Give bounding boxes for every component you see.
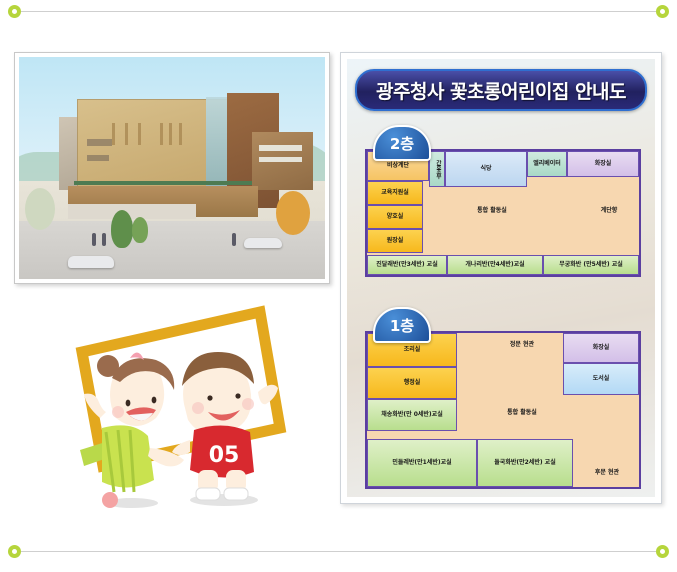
car	[68, 256, 114, 268]
facade-window	[87, 155, 109, 161]
room-2f-elevator[interactable]: 엘리베이터	[527, 151, 567, 177]
tree	[276, 191, 310, 235]
room-2f-class-gaenari[interactable]: 개나리반(만4세반)교실	[447, 255, 543, 275]
facade-window	[87, 139, 112, 146]
facade-louvre	[160, 123, 163, 145]
room-2f-education-support[interactable]: 교육지원실	[367, 181, 423, 205]
building-right-wing	[252, 132, 313, 190]
boy-character: 05	[172, 352, 278, 500]
room-1f-integrated-activity-hall[interactable]: 통합 활동실	[477, 405, 567, 421]
room-2f-restroom[interactable]: 화장실	[567, 151, 639, 177]
page-title: 광주청사 꽃초롱어린이집 안내도	[355, 69, 647, 111]
floor-plan-1f: 조리실 행정실 채송화반(만 0세반)교실 정문 현관 화장실 도서실 통합 활…	[365, 331, 641, 489]
room-2f-director-office[interactable]: 원장실	[367, 229, 423, 253]
ring-icon-bottom-right	[656, 545, 669, 558]
room-1f-rear-entrance[interactable]: 후문 현관	[579, 465, 635, 481]
room-1f-administration[interactable]: 행정실	[367, 367, 457, 399]
floor-badge-2f-label: 2층	[390, 133, 414, 154]
facade-louvre	[138, 123, 141, 145]
room-2f-dining-hall[interactable]: 식당	[445, 151, 527, 187]
ring-icon-bottom-left	[8, 545, 21, 558]
floor-guide-card: 광주청사 꽃초롱어린이집 안내도 2층 비상계단 간호조무 식당 엘리베이터 화…	[340, 52, 662, 504]
top-decorative-rail	[8, 4, 669, 18]
bottom-decorative-rail	[8, 544, 669, 558]
room-2f-class-jindallae[interactable]: 진달래반(만3세반) 교실	[367, 255, 447, 275]
room-1f-class-mindeulle[interactable]: 민들레반(만1세반)교실	[367, 439, 477, 487]
site-wall	[68, 204, 197, 220]
room-1f-main-entrance[interactable]: 정문 현관	[477, 337, 567, 353]
building-canopy	[74, 181, 251, 185]
facade-louvre	[112, 123, 115, 145]
floor-plan-2f: 비상계단 간호조무 식당 엘리베이터 화장실 교육지원실 양호실 원장실 통합 …	[365, 149, 641, 277]
tree	[132, 217, 148, 243]
children-illustration: 05	[72, 300, 302, 520]
room-2f-class-mugunghwa[interactable]: 무궁화반 (만5세반) 교실	[543, 255, 639, 275]
person-figure	[232, 233, 236, 246]
building-rendering-photo	[14, 52, 330, 284]
room-1f-class-deulgukhwa[interactable]: 들국화반(만2세반) 교실	[477, 439, 573, 487]
room-1f-restroom[interactable]: 화장실	[563, 333, 639, 363]
ring-icon-top-right	[656, 5, 669, 18]
facade-louvre	[125, 123, 128, 145]
room-1f-class-chaesonghwa[interactable]: 채송화반(만 0세반)교실	[367, 399, 457, 431]
photo-canvas	[19, 57, 325, 279]
facade-louvre	[169, 123, 172, 145]
road	[19, 221, 325, 279]
room-2f-nurse-office[interactable]: 간호조무	[429, 151, 445, 187]
car	[244, 238, 282, 248]
rail-line-bottom	[21, 551, 656, 552]
room-2f-stair-hall[interactable]: 계단향	[583, 203, 635, 219]
rail-line-top	[21, 11, 656, 12]
room-2f-nurse-office-label: 간호조무	[434, 160, 440, 178]
wing-window	[259, 145, 302, 151]
tree	[111, 210, 133, 248]
facade-louvre	[179, 123, 182, 145]
room-1f-library[interactable]: 도서실	[563, 363, 639, 395]
person-figure	[102, 233, 106, 246]
room-2f-infirmary[interactable]: 양호실	[367, 205, 423, 229]
floor-badge-1f-label: 1층	[390, 315, 414, 336]
ring-icon-top-left	[8, 5, 21, 18]
wing-window	[259, 157, 302, 163]
floor-guide-canvas: 광주청사 꽃초롱어린이집 안내도 2층 비상계단 간호조무 식당 엘리베이터 화…	[347, 59, 655, 497]
person-figure	[92, 233, 96, 246]
room-2f-integrated-activity-hall[interactable]: 통합 활동실	[437, 203, 547, 219]
boy-shirt-number: 05	[209, 443, 240, 468]
